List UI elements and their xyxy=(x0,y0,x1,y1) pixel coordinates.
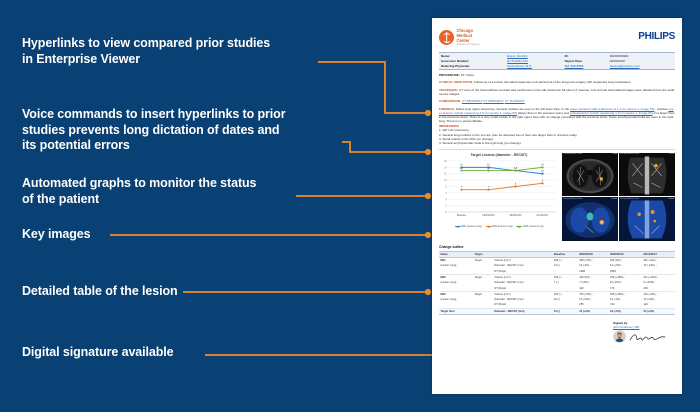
col-date-3: 02/10/2017 xyxy=(642,251,675,258)
legend-swatch xyxy=(516,226,522,227)
summary-date-1: 34 (+2%) xyxy=(578,308,609,314)
col-date-1: 06/23/2016 xyxy=(578,251,609,258)
connector-dot xyxy=(425,110,431,116)
table-row: Referring Physician: David Evans, M.D. T… xyxy=(439,63,675,69)
comparison-study-link[interactable]: CT 09/06/2017 xyxy=(483,99,503,103)
svg-text:7: 7 xyxy=(488,186,490,189)
legend-item: RB2 (Lesion Lung) xyxy=(486,225,513,228)
trend-arrow: ↑ xyxy=(592,259,593,262)
key-image-axial-ct[interactable]: Chicago Medical Center Chest xyxy=(562,153,618,197)
trend-arrow: ↑ xyxy=(655,281,656,284)
signer-name-link[interactable]: John Anderson, MD xyxy=(613,325,639,329)
table-summary-row: Target SumDiameter - RECIST (mm)34 (-)34… xyxy=(439,308,675,314)
legend-label: RB3 (Lesion Lung) xyxy=(523,225,543,228)
svg-text:06/23/2016: 06/23/2016 xyxy=(483,214,496,217)
section-technique: TECHNIQUE: CT scan of the chest without … xyxy=(439,88,675,96)
trend-arrow: ↓ xyxy=(656,264,657,267)
comparison-study-link[interactable]: CT 06/05/2017 xyxy=(462,99,482,103)
connector-dot xyxy=(425,149,431,155)
image-tag: Chicago Medical Center xyxy=(563,153,582,155)
trend-arrow: ↓ xyxy=(621,264,622,267)
summary-date-3: 34 (+2%) xyxy=(642,308,675,314)
svg-text:12: 12 xyxy=(444,174,447,176)
svg-text:6: 6 xyxy=(446,193,448,195)
section-impression: IMPRESSION: 1. S/P LUL lobectomy. 2. Sev… xyxy=(439,124,675,145)
trend-arrow: ↓ xyxy=(621,298,622,301)
comparison-study-link[interactable]: CT 11/03/2017 xyxy=(505,99,525,103)
image-tag: Chicago Medical Center xyxy=(563,198,582,200)
col-name: Name xyxy=(439,251,473,258)
key-images-grid[interactable]: Chicago Medical Center Chest Chicago Med… xyxy=(562,153,675,241)
patient-info-table: Name: Evans, Dorothy ID: 2020160394D Acc… xyxy=(439,52,675,70)
section-label: COMPARISON: xyxy=(439,99,461,103)
legend-swatch xyxy=(486,226,492,227)
table-header-row: Name Target Baseline 06/23/2016 09/20/20… xyxy=(439,251,675,258)
trend-arrow: ↓ xyxy=(591,298,592,301)
section-procedure: PROCEDURE: CT Chest. xyxy=(439,73,675,77)
trend-arrow: ↓ xyxy=(589,281,590,284)
connector-dot xyxy=(425,193,431,199)
image-caption: Fusion xyxy=(612,198,617,200)
section-findings: FINDINGS: Status post upper lobectomy. S… xyxy=(439,107,675,124)
caduceus-icon xyxy=(439,30,454,45)
summary-metric: Diameter - RECIST (mm) xyxy=(493,308,553,314)
impression-item: 4. Several emphysematic bulla in the rig… xyxy=(439,141,675,145)
change-outline-table: Name Target Baseline 06/23/2016 09/20/20… xyxy=(439,251,675,315)
section-text: CT scan of the chest without contrast wa… xyxy=(439,88,674,96)
trend-arrow: ↑ xyxy=(624,276,625,279)
image-caption: Fusion xyxy=(669,198,674,200)
signature-block: Signed by John Anderson, MD xyxy=(439,321,675,343)
summary-name: Target Sum xyxy=(439,308,473,314)
svg-text:4: 4 xyxy=(446,199,448,201)
svg-text:2: 2 xyxy=(446,206,448,208)
svg-text:10: 10 xyxy=(444,180,447,182)
image-caption: Chest xyxy=(669,153,674,155)
col-target: Target xyxy=(473,251,493,258)
image-tag: Chicago Medical Center xyxy=(620,153,639,155)
section-clinical-indication: CLINICAL INDICATION: Follow-up of a know… xyxy=(439,80,675,84)
svg-text:8: 8 xyxy=(515,183,517,186)
handwritten-signature xyxy=(628,332,667,342)
svg-text:16: 16 xyxy=(444,161,447,163)
hospital-name: Chicago Medical Center Advanced Imaging xyxy=(457,28,480,47)
chart-title: Target Lesions (diameter - RECIST) xyxy=(439,153,559,158)
key-image-coronal-ct[interactable]: Chicago Medical Center Chest xyxy=(619,153,675,197)
svg-text:14: 14 xyxy=(541,164,544,167)
report-header: Chicago Medical Center Advanced Imaging … xyxy=(439,25,675,49)
svg-text:02/10/2017: 02/10/2017 xyxy=(537,214,550,217)
section-label: PROCEDURE: xyxy=(439,73,460,77)
section-text: Follow-up of a known left-sided squamous… xyxy=(474,80,631,84)
summary-date-2: 34 (+0%) xyxy=(609,308,642,314)
connector-dot xyxy=(425,289,431,295)
col-metric xyxy=(493,251,553,258)
trend-arrow: ↑ xyxy=(657,276,658,279)
svg-text:7: 7 xyxy=(461,186,463,189)
phone-link[interactable]: Tel: 312-5479 xyxy=(565,64,584,68)
trend-arrow: ↑ xyxy=(592,293,593,296)
trend-arrow: ↑ xyxy=(624,293,625,296)
divider xyxy=(439,149,675,150)
trend-arrow: ↑ xyxy=(591,276,592,279)
key-image-axial-pet[interactable]: Chicago Medical Center Fusion xyxy=(562,197,618,241)
trend-arrow: ↑ xyxy=(656,259,657,262)
info-label: Referring Physician: xyxy=(439,63,505,69)
trend-arrow: ↑ xyxy=(656,293,657,296)
col-date-2: 09/20/2016 xyxy=(609,251,642,258)
image-tag: Chicago Medical Center xyxy=(620,198,639,200)
hospital-logo: Chicago Medical Center Advanced Imaging xyxy=(439,28,480,47)
svg-text:09/20/2016: 09/20/2016 xyxy=(510,214,523,217)
connector-hyperlinks xyxy=(318,62,428,113)
summary-baseline: 34 (-) xyxy=(552,308,577,314)
legend-swatch xyxy=(455,226,461,227)
legend-item: RB1 (Lesion Lung) xyxy=(455,225,482,228)
target-lesions-chart: Target Lesions (diameter - RECIST) 02468… xyxy=(439,153,559,241)
svg-text:Baseline: Baseline xyxy=(457,214,467,217)
image-caption: Chest xyxy=(612,153,617,155)
email-link[interactable]: devans@practice.com xyxy=(610,64,640,68)
svg-text:12: 12 xyxy=(541,170,544,173)
connector-dot xyxy=(425,232,431,238)
vendor-logo: PHILIPS xyxy=(638,30,675,44)
col-baseline: Baseline xyxy=(552,251,577,258)
chart-canvas: 024681012141614141312778913131314Baselin… xyxy=(439,158,559,224)
avatar xyxy=(613,330,626,343)
section-text: CT Chest. xyxy=(461,73,475,77)
section-label: CLINICAL INDICATION: xyxy=(439,80,473,84)
chart-legend: RB1 (Lesion Lung)RB2 (Lesion Lung)RB3 (L… xyxy=(439,225,559,228)
trend-arrow: ↑ xyxy=(621,259,622,262)
legend-label: RB2 (Lesion Lung) xyxy=(493,225,513,228)
section-comparison: COMPARISON: CT 06/05/2017 CT 09/06/2017 … xyxy=(439,99,675,103)
patient-name-link[interactable]: Evans, Dorothy xyxy=(507,54,528,58)
hospital-tagline: Advanced Imaging xyxy=(457,43,480,46)
trend-arrow: ↑ xyxy=(621,281,622,284)
legend-label: RB1 (Lesion Lung) xyxy=(462,225,482,228)
radiology-report-document: Chicago Medical Center Advanced Imaging … xyxy=(432,18,682,394)
svg-text:8: 8 xyxy=(446,187,448,189)
svg-text:13: 13 xyxy=(514,167,517,170)
svg-text:0: 0 xyxy=(446,212,448,214)
svg-text:9: 9 xyxy=(542,180,544,183)
connector-voice xyxy=(342,142,428,152)
physician-link[interactable]: David Evans, M.D. xyxy=(507,64,532,68)
legend-item: RB3 (Lesion Lung) xyxy=(516,225,543,228)
trend-arrow: ↓ xyxy=(590,264,591,267)
svg-text:14: 14 xyxy=(444,167,447,169)
change-outline-title: Change outline xyxy=(439,245,675,250)
key-image-coronal-pet[interactable]: Chicago Medical Center Fusion xyxy=(619,197,675,241)
accession-link[interactable]: RCTU2012.014 xyxy=(507,59,528,63)
trend-arrow: ↓ xyxy=(655,298,656,301)
